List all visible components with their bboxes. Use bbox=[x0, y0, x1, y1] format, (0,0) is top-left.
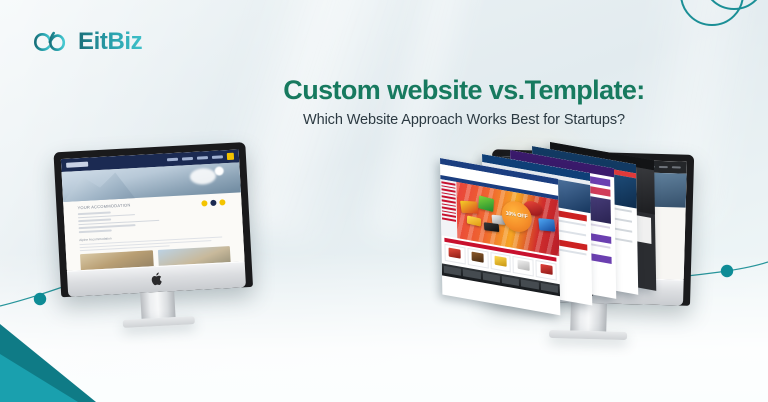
banner-stage: EitBiz Custom website vs.Template: Which… bbox=[0, 0, 768, 402]
discount-badge-text: 10% OFF bbox=[506, 212, 528, 221]
product-tile bbox=[490, 252, 511, 273]
language-flag-icon bbox=[227, 153, 234, 160]
connector-dot-left bbox=[34, 293, 46, 305]
monitor-neck bbox=[140, 291, 175, 319]
eitbiz-eb-monogram-icon bbox=[33, 27, 73, 57]
product-tile bbox=[444, 244, 465, 265]
site-logo-icon bbox=[66, 162, 88, 168]
monitor-foot bbox=[549, 330, 627, 340]
brand-logo[interactable]: EitBiz bbox=[33, 27, 142, 57]
screen-custom-site: YOUR ACCOMMODATION Alpine Accommodation bbox=[61, 149, 245, 270]
template-stack: 10% OFF bbox=[432, 140, 682, 290]
product-tile bbox=[536, 260, 557, 281]
grocery-category-sidebar bbox=[440, 179, 457, 238]
template-layer-grocery-front: 10% OFF bbox=[440, 158, 560, 315]
page-subtitle: Which Website Approach Works Best for St… bbox=[0, 112, 768, 128]
connector-dot-right bbox=[721, 265, 733, 277]
product-tile bbox=[467, 248, 488, 269]
page-title: Custom website vs.Template: bbox=[0, 76, 768, 106]
brand-name: EitBiz bbox=[78, 30, 142, 54]
imac-left-custom-website: YOUR ACCOMMODATION Alpine Accommodation bbox=[53, 142, 254, 331]
monitor-neck bbox=[570, 303, 607, 332]
apple-logo-icon bbox=[151, 272, 163, 286]
monitor-bezel: YOUR ACCOMMODATION Alpine Accommodation bbox=[53, 142, 253, 297]
product-tile bbox=[513, 256, 534, 277]
overlapping-circles-icon bbox=[654, 0, 768, 74]
